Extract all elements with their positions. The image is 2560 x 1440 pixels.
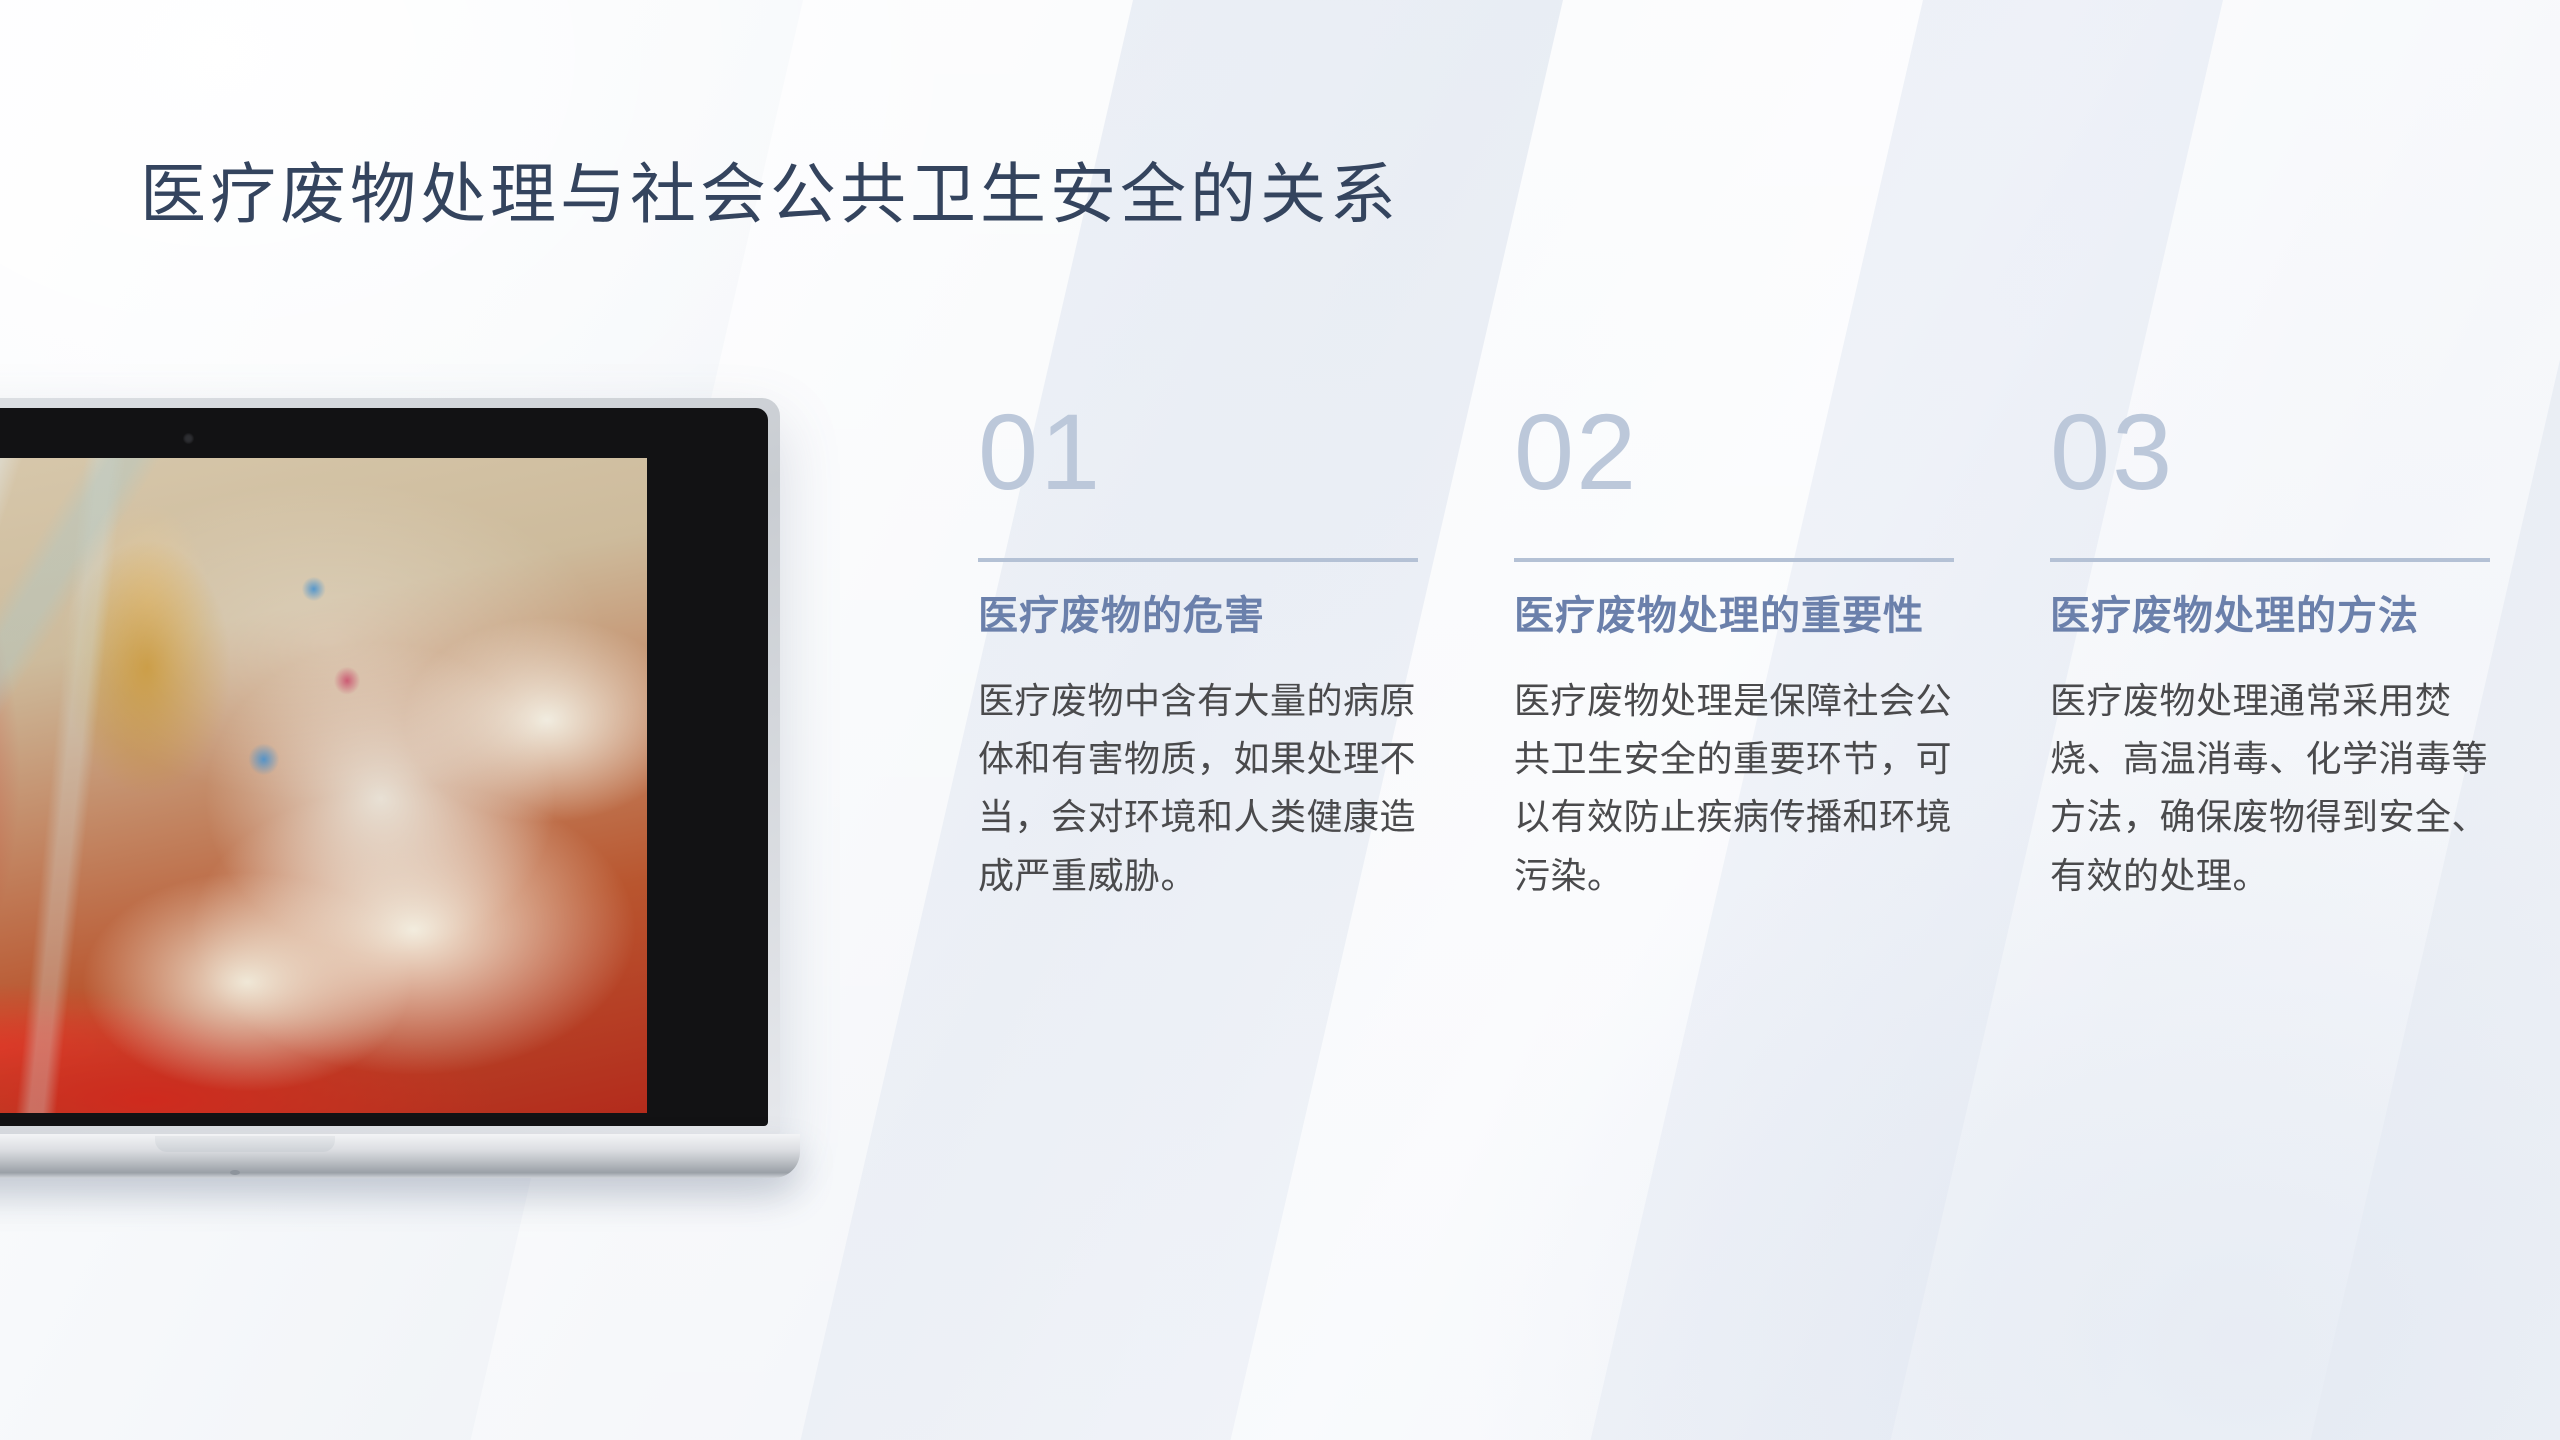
medical-waste-photo xyxy=(0,458,647,1113)
column-divider-02 xyxy=(1514,558,1954,562)
column-heading-03: 医疗废物处理的方法 xyxy=(2050,592,2490,642)
column-number-02: 02 xyxy=(1514,398,1954,506)
laptop-screen xyxy=(0,458,647,1113)
laptop-base-notch xyxy=(155,1136,335,1152)
laptop-lid xyxy=(0,398,780,1138)
column-body-02: 医疗废物处理是保障社会公共卫生安全的重要环节，可以有效防止疾病传播和环境污染。 xyxy=(1514,672,1954,905)
column-number-01: 01 xyxy=(978,398,1418,506)
column-body-03: 医疗废物处理通常采用焚烧、高温消毒、化学消毒等方法，确保废物得到安全、有效的处理… xyxy=(2050,672,2490,905)
column-heading-02: 医疗废物处理的重要性 xyxy=(1514,592,1954,642)
laptop-camera-icon xyxy=(183,433,194,444)
laptop-bezel xyxy=(0,408,768,1126)
column-body-01: 医疗废物中含有大量的病原体和有害物质，如果处理不当，会对环境和人类健康造成严重威… xyxy=(978,672,1418,905)
content-column-02: 02 医疗废物处理的重要性 医疗废物处理是保障社会公共卫生安全的重要环节，可以有… xyxy=(1514,398,1954,905)
laptop-base xyxy=(0,1134,800,1178)
column-divider-01 xyxy=(978,558,1418,562)
column-divider-03 xyxy=(2050,558,2490,562)
page-title: 医疗废物处理与社会公共卫生安全的关系 xyxy=(140,156,1400,234)
column-number-03: 03 xyxy=(2050,398,2490,506)
laptop-mockup xyxy=(0,398,780,1198)
content-columns: 01 医疗废物的危害 医疗废物中含有大量的病原体和有害物质，如果处理不当，会对环… xyxy=(978,398,2490,905)
column-heading-01: 医疗废物的危害 xyxy=(978,592,1418,642)
slide-root: 医疗废物处理与社会公共卫生安全的关系 01 医疗废物的危害 医疗废物中含有大量的… xyxy=(0,0,2560,1440)
content-column-01: 01 医疗废物的危害 医疗废物中含有大量的病原体和有害物质，如果处理不当，会对环… xyxy=(978,398,1418,905)
laptop-base-foot xyxy=(230,1170,240,1175)
content-column-03: 03 医疗废物处理的方法 医疗废物处理通常采用焚烧、高温消毒、化学消毒等方法，确… xyxy=(2050,398,2490,905)
